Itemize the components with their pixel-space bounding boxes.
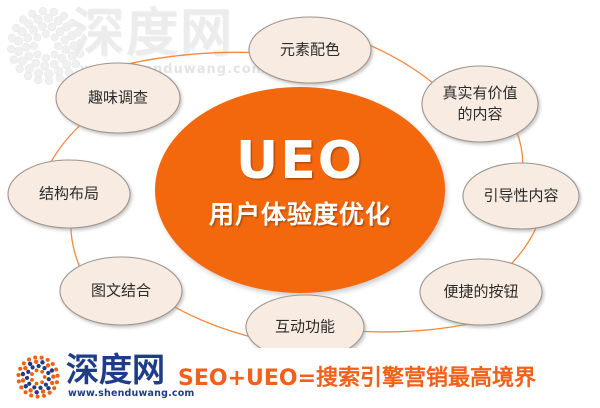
footer-tagline: SEO+UEO=搜索引擎营销最高境界 — [178, 360, 536, 392]
satellite-node-4[interactable]: 便捷的按钮 — [420, 259, 542, 325]
satellite-node-3[interactable]: 引导性内容 — [463, 163, 579, 229]
node-label: 便捷的按钮 — [443, 283, 518, 301]
center-node: UEO 用户体验度优化 — [155, 87, 445, 293]
satellite-node-1[interactable]: 元素配色 — [249, 17, 371, 83]
node-label: 互动功能 — [275, 318, 335, 336]
node-label: 元素配色 — [280, 41, 340, 59]
satellite-node-6[interactable]: 图文结合 — [60, 257, 182, 325]
site-logo[interactable]: 深度网 www.shenduwang.com — [14, 350, 166, 404]
satellite-node-7[interactable]: 结构布局 — [8, 160, 130, 228]
logo-radial-dots-icon — [14, 354, 62, 400]
satellite-node-5[interactable]: 互动功能 — [246, 295, 364, 348]
node-label: 图文结合 — [91, 282, 151, 300]
node-label: 引导性内容 — [483, 187, 558, 205]
satellite-node-2[interactable]: 真实有价值的内容 — [422, 66, 538, 142]
node-ellipse — [422, 66, 538, 142]
node-label: 趣味调查 — [88, 89, 148, 107]
logo-brand: 深度网 — [66, 353, 165, 386]
node-label: 结构布局 — [39, 185, 99, 203]
footer: 深度网 www.shenduwang.com SEO+UEO=搜索引擎营销最高境… — [0, 346, 600, 408]
diagram-canvas: 深度网 www.shenduwang.com UEO 用户体验度优化 元素配色真… — [0, 0, 600, 408]
center-title: UEO — [236, 131, 364, 191]
node-label: 的内容 — [457, 105, 502, 123]
logo-url: www.shenduwang.com — [68, 388, 195, 399]
node-label: 真实有价值 — [442, 84, 517, 102]
ueo-concept-map: UEO 用户体验度优化 元素配色真实有价值的内容引导性内容便捷的按钮互动功能图文… — [0, 0, 600, 348]
center-subtitle: 用户体验度优化 — [209, 200, 391, 229]
satellite-node-8[interactable]: 趣味调查 — [56, 63, 180, 133]
